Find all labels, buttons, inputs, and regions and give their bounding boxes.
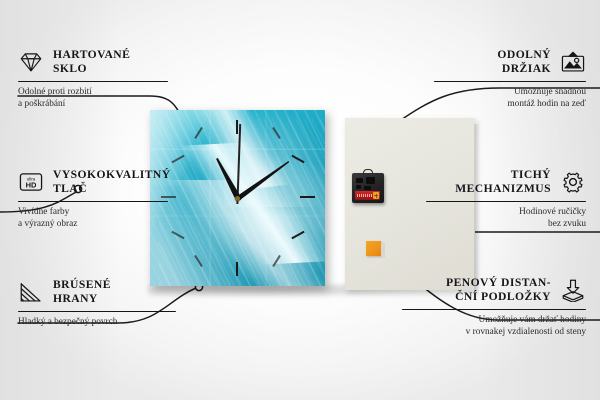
feature-sub-line: Umožňuje snadnou [434,87,586,99]
feature-head: HARTOVANÉ SKLO [18,48,168,75]
feature-sub-line: Hladký a bezpečný povrch [18,317,176,329]
feature-divider [402,309,586,310]
feature-sub-line: montáž hodin na zeď [434,99,586,111]
feature-title-line: TICHÝ [455,168,551,182]
polished-edge-icon [18,280,44,304]
feature-title-line: MECHANIZMUS [455,182,551,196]
feature-sub-line: a poškrábání [18,99,168,111]
feature-title-line: DRŽIAK [497,62,551,76]
wall-clock-photo [150,110,325,286]
battery-terminal [373,192,379,199]
feature-head: PENOVÝ DISTAN- ČNÍ PODLOŽKY [402,276,586,303]
feature-block-foam: PENOVÝ DISTAN- ČNÍ PODLOŽKY Umožňuje vám… [402,276,586,339]
feature-title-line: BRÚSENÉ [53,278,111,292]
feature-head: TICHÝ MECHANIZMUS [426,168,586,195]
feature-sub-line: Odolné proti rozbití [18,87,168,99]
svg-text:HD: HD [26,180,37,189]
clock-movement-photo [352,173,384,203]
feature-title-line: HRANY [53,292,111,306]
diamond-icon [18,50,44,74]
movement-slot [356,185,361,189]
feature-title-line: ČNÍ PODLOŽKY [446,290,551,304]
feature-divider [18,311,176,312]
feature-head: BRÚSENÉ HRANY [18,278,176,305]
feature-subtitle: Umožňuje snadnou montáž hodin na zeď [434,87,586,110]
feature-sub-line: a výrazný obraz [18,219,168,231]
clock-center-pivot [235,196,240,201]
movement-hanger [363,169,373,175]
feature-subtitle: Umožňuje vám držať hodiny v rovnakej vzd… [402,315,586,338]
feature-divider [18,81,168,82]
feature-title-line: PENOVÝ DISTAN- [446,276,551,290]
clock-tick-12 [236,120,238,134]
feature-sub-line: Umožňuje vám držať hodiny [402,315,586,327]
feature-title-line: ODOLNÝ [497,48,551,62]
feature-divider [18,201,168,202]
feature-sub-line: Hodinové ručičky [426,207,586,219]
feature-title: PENOVÝ DISTAN- ČNÍ PODLOŽKY [446,276,551,303]
feature-block-mechanism: TICHÝ MECHANIZMUS Hodinové ručičky bez z… [426,168,586,231]
feature-title: TICHÝ MECHANIZMUS [455,168,551,195]
picture-hanger-icon [560,50,586,74]
spacer-arrow-icon [560,278,586,302]
clock-tick-6 [236,262,238,276]
feature-block-print: ultra HD VYSOKOKVALITNÝ TLAČ Vivídne far… [18,168,168,231]
feature-sub-line: bez zvuku [426,219,586,231]
battery [355,191,380,200]
infographic-canvas: HARTOVANÉ SKLO Odolné proti rozbití a po… [0,0,600,400]
feature-title-line: TLAČ [53,182,171,196]
feature-block-glass: HARTOVANÉ SKLO Odolné proti rozbití a po… [18,48,168,111]
feature-subtitle: Odolné proti rozbití a poškrábání [18,87,168,110]
feature-block-edges: BRÚSENÉ HRANY Hladký a bezpečný povrch [18,278,176,329]
ultra-hd-icon: ultra HD [18,170,44,194]
feature-title-line: SKLO [53,62,130,76]
movement-slot [356,178,363,183]
feature-head: ODOLNÝ DRŽIAK [434,48,586,75]
feature-divider [434,81,586,82]
feature-title: HARTOVANÉ SKLO [53,48,130,75]
feature-block-holder: ODOLNÝ DRŽIAK Umožňuje snadnou montáž ho… [434,48,586,111]
feature-title-line: VYSOKOKVALITNÝ [53,168,171,182]
feature-subtitle: Vivídne farby a výrazný obraz [18,207,168,230]
feature-sub-line: v rovnakej vzdialenosti od steny [402,327,586,339]
feature-title: ODOLNÝ DRŽIAK [497,48,551,75]
feature-sub-line: Vivídne farby [18,207,168,219]
feature-divider [426,201,586,202]
movement-slot [364,186,371,190]
feature-subtitle: Hladký a bezpečný povrch [18,317,176,329]
gear-icon [560,170,586,194]
feature-title: VYSOKOKVALITNÝ TLAČ [53,168,171,195]
foam-spacer-pad-photo [366,241,381,256]
battery-label [357,194,373,197]
clock-tick-3 [300,196,315,198]
feature-title-line: HARTOVANÉ [53,48,130,62]
feature-subtitle: Hodinové ručičky bez zvuku [426,207,586,230]
movement-slot [366,177,375,184]
feature-title: BRÚSENÉ HRANY [53,278,111,305]
feature-head: ultra HD VYSOKOKVALITNÝ TLAČ [18,168,168,195]
